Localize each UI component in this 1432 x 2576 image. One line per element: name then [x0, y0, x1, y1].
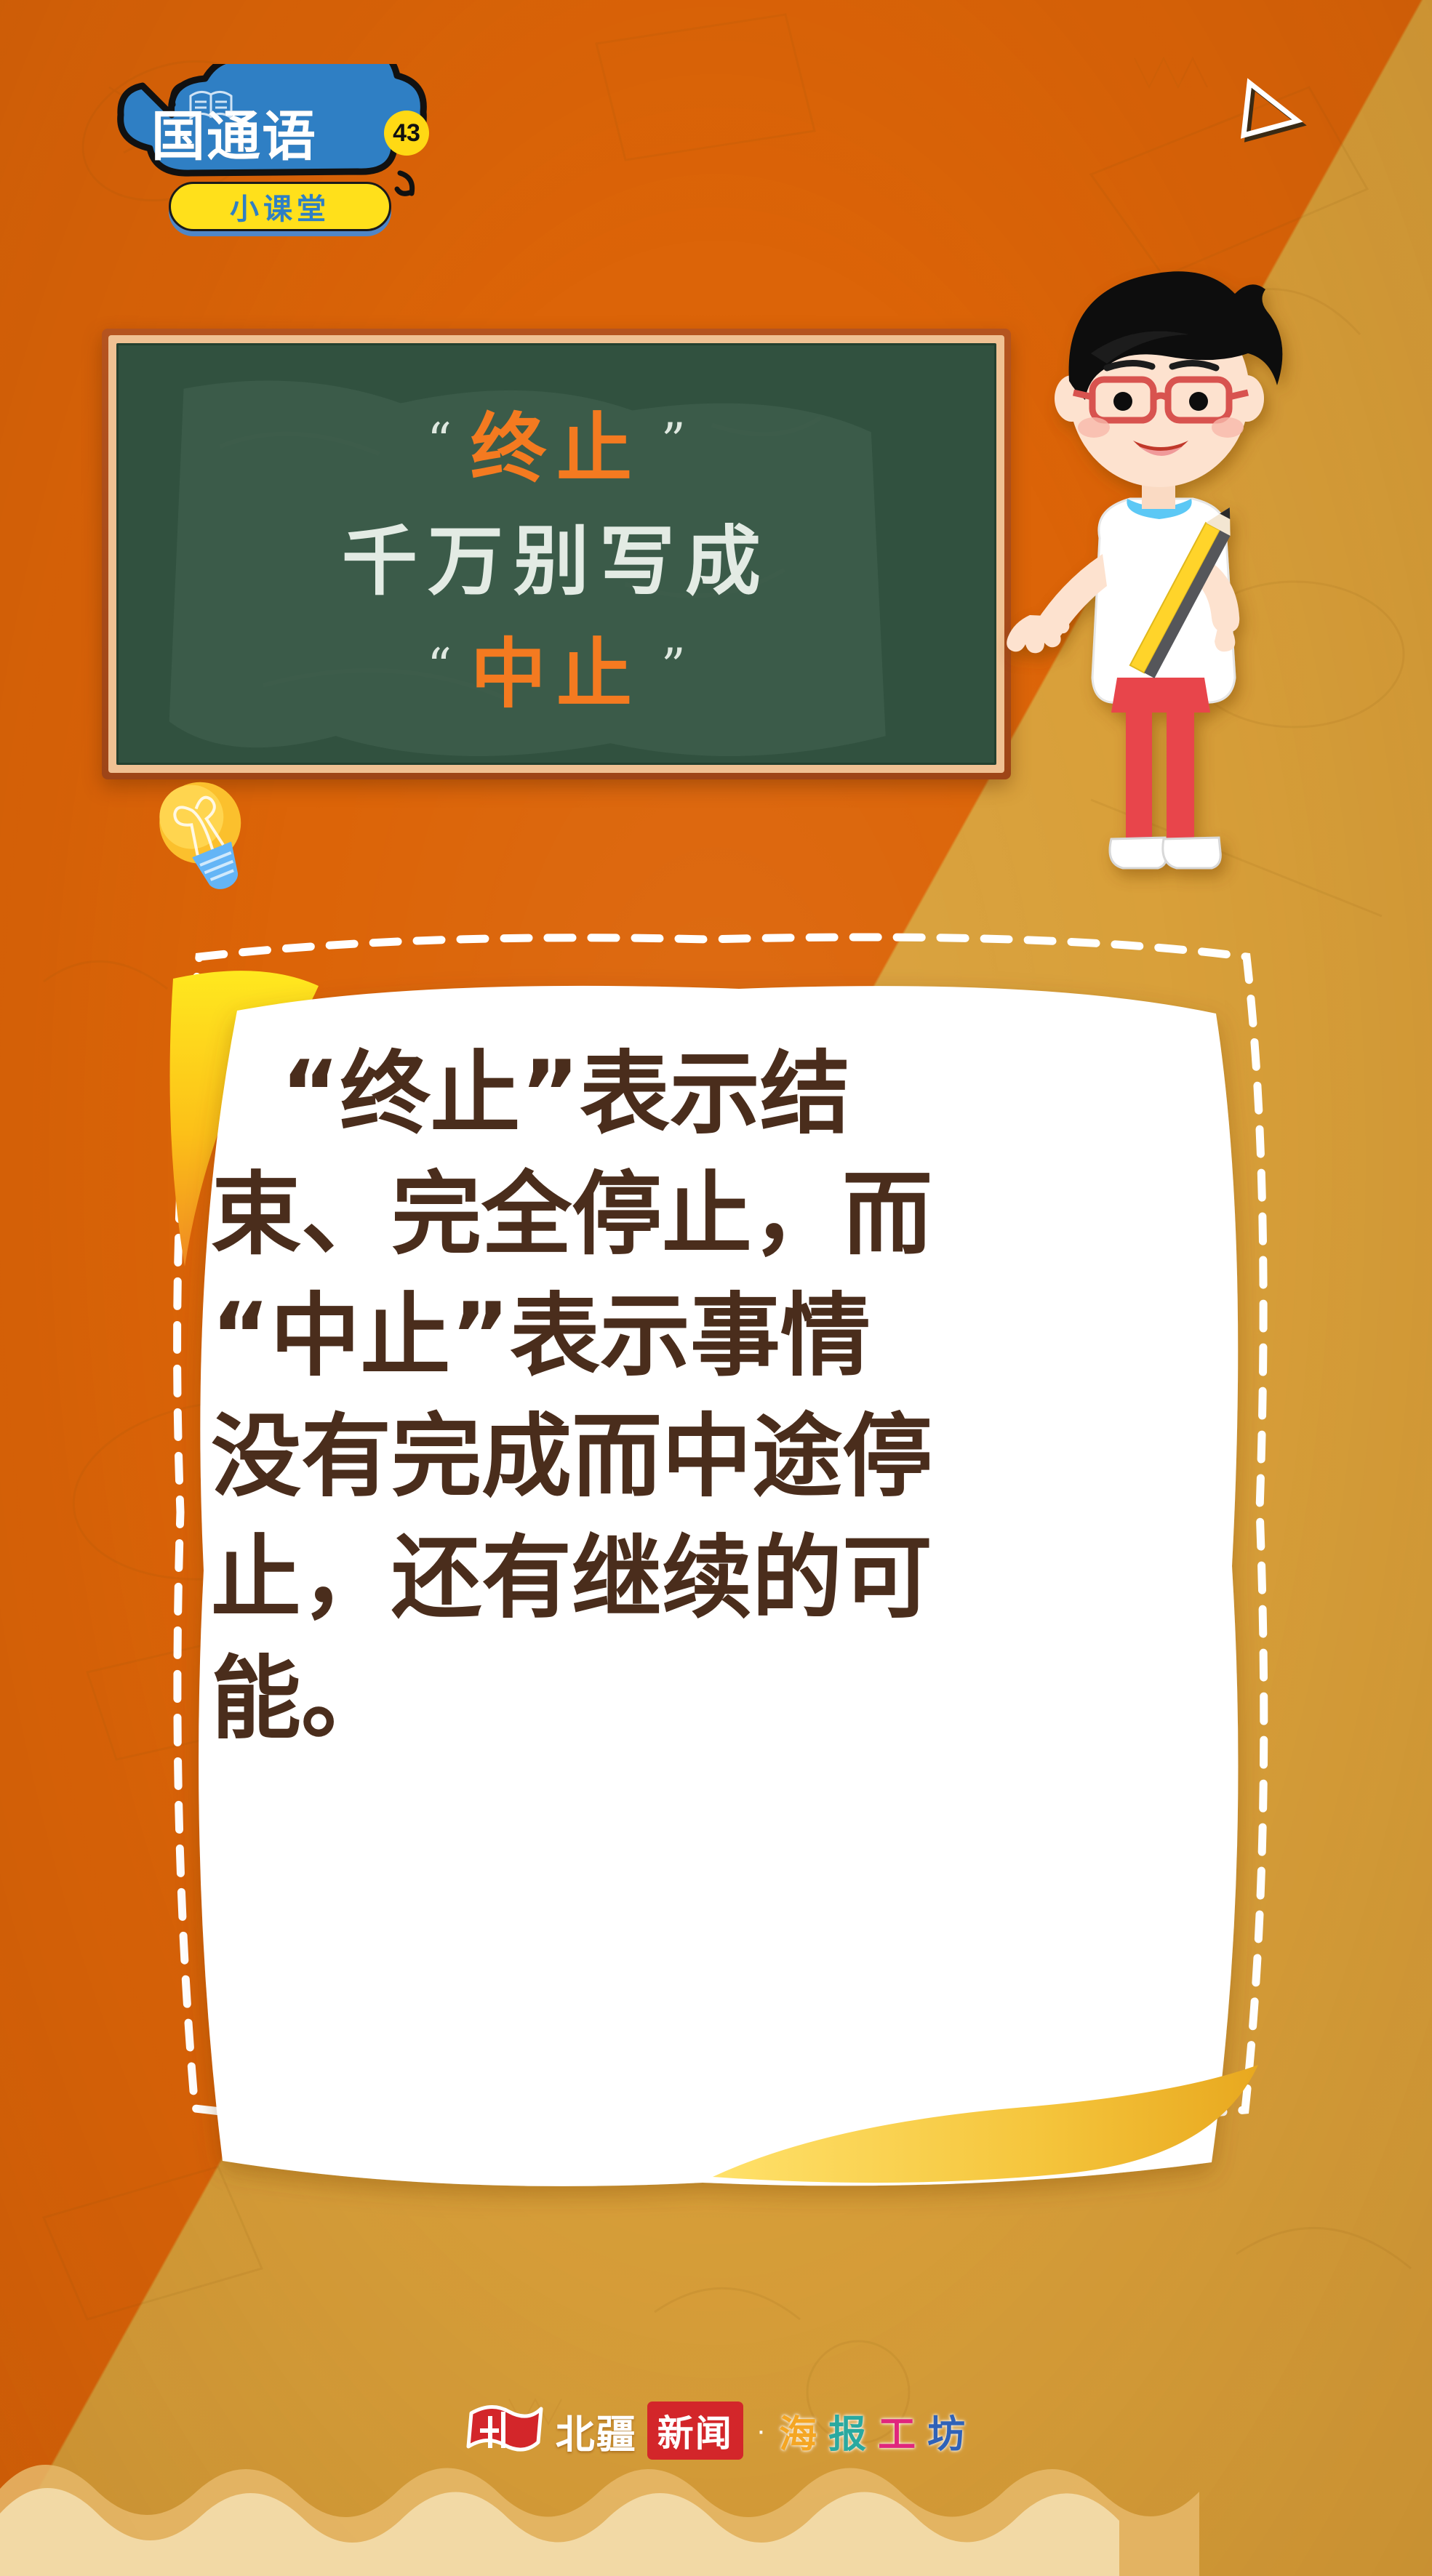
- footer-brand-name: 北疆: [556, 2402, 637, 2460]
- footer-studio-char-2: 报: [828, 2404, 868, 2458]
- footer-studio-char-1: 海: [779, 2404, 818, 2458]
- logo-char-1: 国: [151, 110, 204, 164]
- content-card: “终止”表示结 束、完全停止，而 “中止”表示事情 没有完成而中途停 止，还有继…: [167, 952, 1280, 2221]
- card-line-5: 止，还有继续的可: [211, 1533, 1244, 1624]
- footer-studio-char-4: 坊: [927, 2404, 967, 2458]
- footer-brand-bar: 北疆 新闻 · 海 报 工 坊: [0, 2383, 1432, 2478]
- leg-right: [1167, 698, 1194, 851]
- blackboard-frame-inner: “ 终止 ” 千万别写成 “ 中止 ”: [108, 335, 1004, 773]
- logo-char-3: 语: [262, 110, 314, 164]
- blackboard-surface: “ 终止 ” 千万别写成 “ 中止 ”: [116, 343, 996, 765]
- logo-subtitle-pill: 小课堂: [169, 182, 391, 231]
- footer-separator: ·: [756, 2415, 766, 2447]
- red-flag-icon: [465, 2402, 545, 2460]
- logo-char-2: 通: [207, 110, 259, 164]
- logo-subtitle-text: 小课堂: [230, 185, 330, 228]
- leg-left: [1126, 698, 1152, 851]
- quote-open-1: “: [427, 417, 452, 465]
- card-line-4: 没有完成而中途停: [211, 1411, 1244, 1503]
- lightbulb-icon: [143, 769, 266, 896]
- card-line-3: “中止”表示事情: [211, 1291, 1244, 1382]
- blackboard-line-1: 终止: [471, 387, 642, 497]
- footer-studio-char-3: 工: [878, 2404, 917, 2458]
- poster-root: 国 通 语 43 小课堂: [0, 0, 1432, 2576]
- card-text-block: “终止”表示结 束、完全停止，而 “中止”表示事情 没有完成而中途停 止，还有继…: [211, 1048, 1244, 1746]
- play-triangle-icon[interactable]: [1228, 73, 1308, 145]
- blackboard-text-block: “ 终止 ” 千万别写成 “ 中止 ”: [119, 345, 994, 763]
- blackboard-row-2: 千万别写成: [342, 499, 771, 609]
- quote-open-3: “: [427, 643, 452, 691]
- logo-title-group: 国 通 语: [151, 106, 391, 167]
- logo-badge: 国 通 语 43 小课堂: [99, 64, 448, 231]
- episode-number-badge: 43: [384, 111, 429, 156]
- quote-close-3: ”: [661, 643, 686, 691]
- blackboard-line-2: 千万别写成: [342, 499, 771, 609]
- card-line-2: 束、完全停止，而: [211, 1169, 1244, 1261]
- quote-close-1: ”: [661, 417, 686, 465]
- blackboard-row-3: “ 中止 ”: [427, 612, 686, 722]
- footer-brand-tag: 新闻: [647, 2402, 743, 2460]
- blackboard-row-1: “ 终止 ”: [427, 387, 686, 497]
- card-line-1: “终止”表示结: [211, 1048, 1244, 1140]
- card-line-6: 能。: [211, 1653, 1244, 1745]
- blackboard: “ 终止 ” 千万别写成 “ 中止 ”: [102, 329, 1011, 779]
- blackboard-line-3: 中止: [471, 612, 642, 722]
- cartoon-boy-character: [983, 225, 1325, 916]
